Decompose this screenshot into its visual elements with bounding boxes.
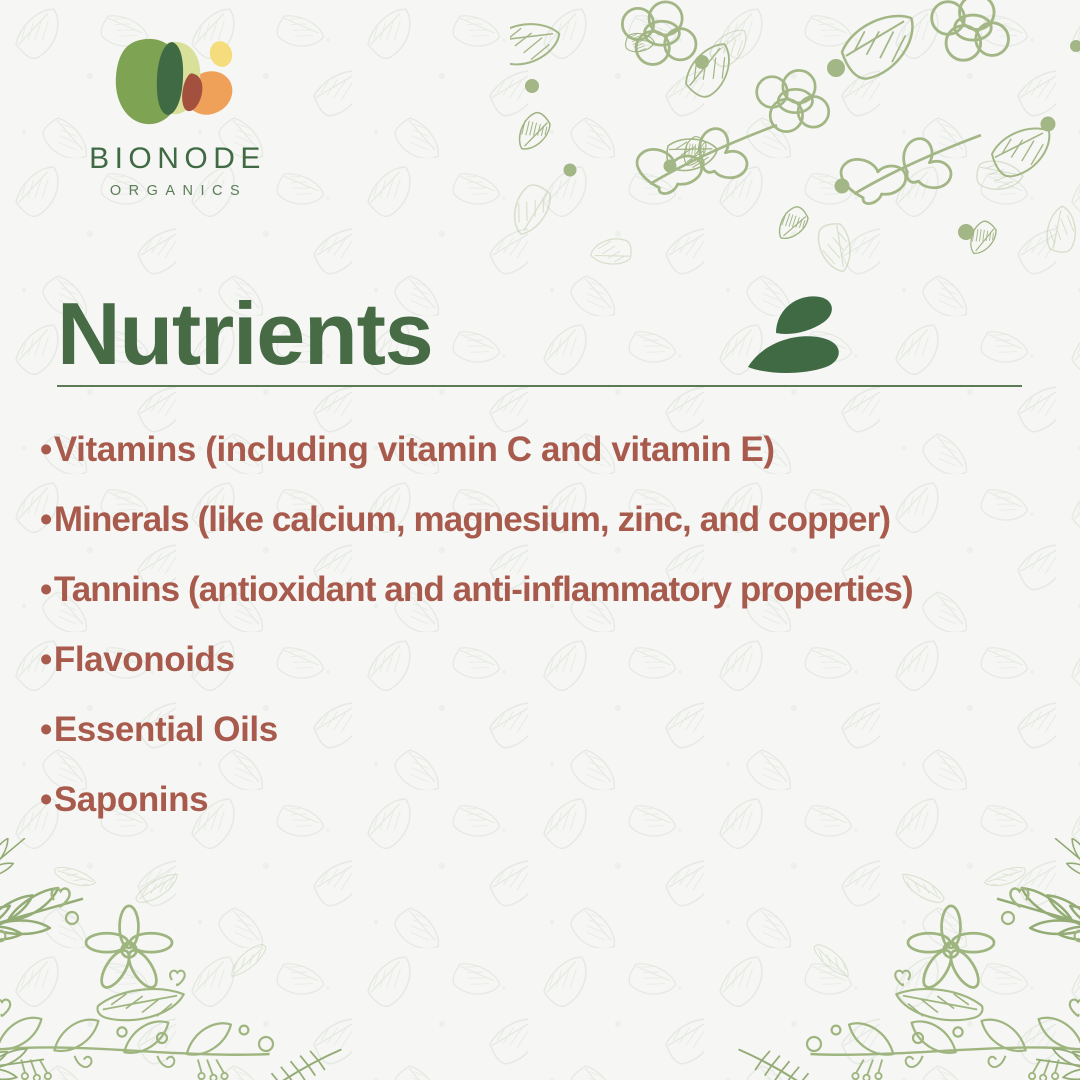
page-title: Nutrients (57, 292, 432, 376)
organic-blobs-logo-icon (110, 30, 240, 138)
decoration-bottom-right (694, 838, 1080, 1080)
brand-tagline: ORGANICS (55, 184, 295, 199)
bullet-icon: • (40, 432, 52, 467)
list-item-label: Flavonoids (54, 640, 235, 680)
bullet-icon: • (40, 712, 52, 747)
title-row: Nutrients (57, 286, 1022, 382)
list-item-label: Vitamins (including vitamin C and vitami… (54, 430, 775, 470)
list-item: • Tannins (antioxidant and anti-inflamma… (40, 570, 1070, 640)
bullet-icon: • (40, 642, 52, 677)
decoration-bottom-left (0, 838, 386, 1080)
list-item: • Essential Oils (40, 710, 1070, 780)
brand-logo[interactable]: BIONODE ORGANICS (55, 30, 295, 199)
poster-canvas: BIONODE ORGANICS Nutrients • Vitamins (i… (0, 0, 1080, 1080)
title-divider (57, 385, 1022, 387)
list-item-label: Saponins (54, 780, 208, 820)
list-item-label: Tannins (antioxidant and anti-inflammato… (54, 570, 913, 610)
list-item: • Minerals (like calcium, magnesium, zin… (40, 500, 1070, 570)
nutrient-list: • Vitamins (including vitamin C and vita… (40, 430, 1070, 850)
bullet-icon: • (40, 572, 52, 607)
bullet-icon: • (40, 502, 52, 537)
two-leaf-sprout-icon (742, 291, 862, 377)
list-item: • Vitamins (including vitamin C and vita… (40, 430, 1070, 500)
list-item-label: Essential Oils (54, 710, 278, 750)
list-item-label: Minerals (like calcium, magnesium, zinc,… (54, 500, 890, 540)
brand-name: BIONODE (55, 144, 295, 174)
decoration-top-right (510, 0, 1080, 294)
bullet-icon: • (40, 782, 52, 817)
list-item: • Saponins (40, 780, 1070, 850)
list-item: • Flavonoids (40, 640, 1070, 710)
